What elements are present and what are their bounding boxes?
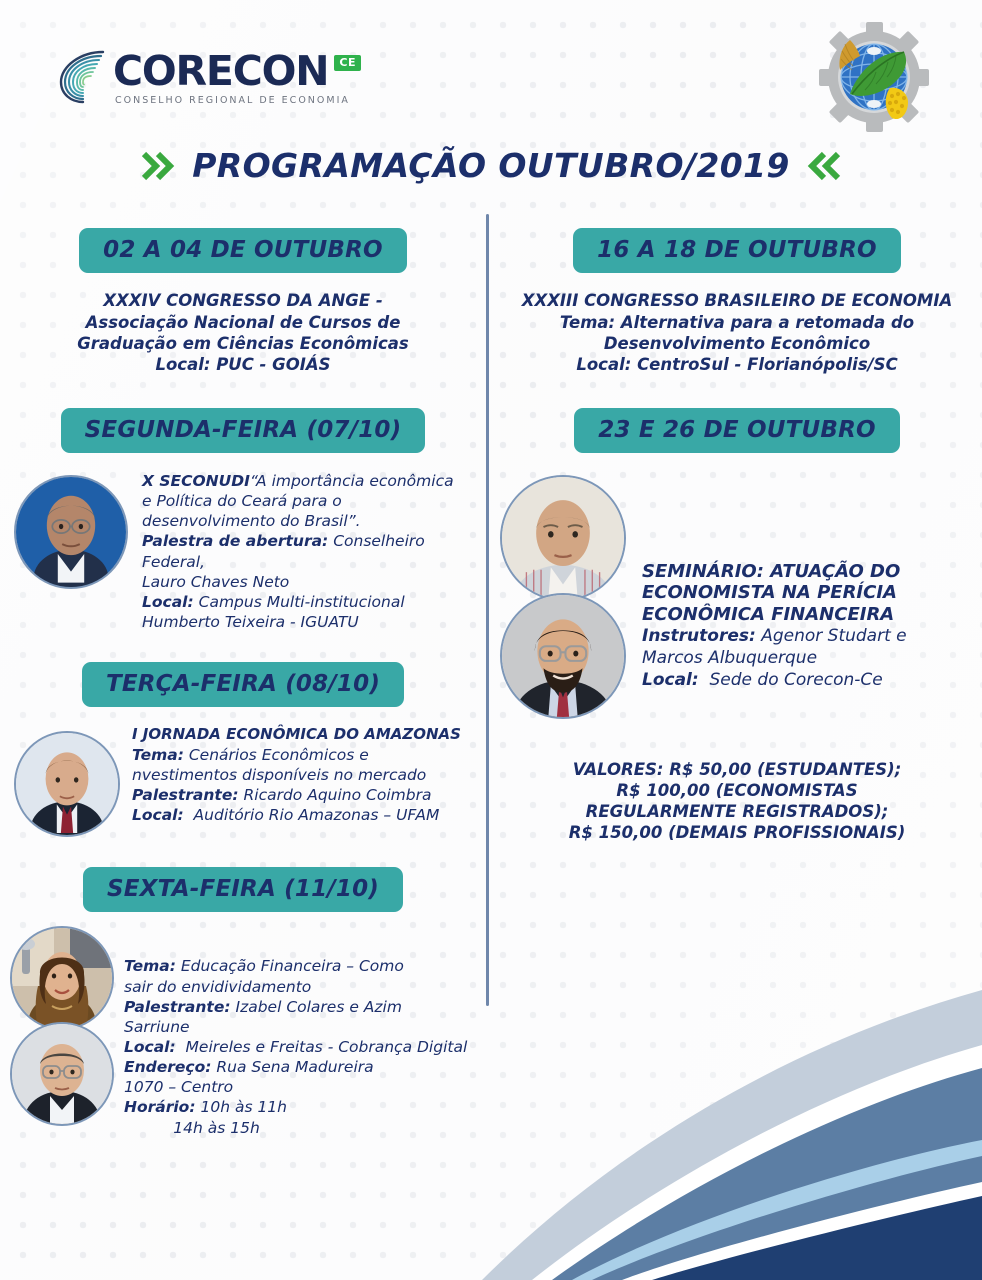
event-section: SEXTA-FEIRA (11/10) xyxy=(0,867,486,1137)
event-line: XXXIV CONGRESSO DA ANGE - xyxy=(22,290,464,311)
text-value: 14h às 15h xyxy=(124,1118,472,1138)
avatar-photo xyxy=(12,1024,112,1124)
text-label: Local: xyxy=(132,806,184,824)
pricing-line: R$ 100,00 (ECONOMISTAS xyxy=(518,780,956,801)
date-badge: 02 A 04 DE OUTUBRO xyxy=(79,228,407,273)
corecon-swirl-icon xyxy=(55,46,107,108)
text-value: e Política do Ceará para o xyxy=(142,491,472,511)
date-badge: 23 E 26 DE OUTUBRO xyxy=(574,408,900,453)
text-value: Humberto Teixeira - IGUATU xyxy=(142,612,472,632)
column-divider xyxy=(486,214,489,1006)
double-chevron-left-icon xyxy=(806,148,842,184)
event-body: XXXIV CONGRESSO DA ANGE - Associação Nac… xyxy=(0,290,486,376)
instructor-avatar xyxy=(500,593,626,719)
page-header: CORECON CE CONSELHO REGIONAL DE ECONOMIA xyxy=(0,0,982,140)
text-label: Local: xyxy=(142,593,194,611)
event-body: X SECONUDI“A importância econômica e Pol… xyxy=(0,471,486,632)
text-value: Educação Financeira – Como xyxy=(181,957,404,975)
text-value: 1070 – Centro xyxy=(124,1077,472,1097)
date-badge: 16 A 18 DE OUTUBRO xyxy=(573,228,901,273)
event-line: Local: CentroSul - Florianópolis/SC xyxy=(502,354,972,375)
event-line: XXXIII CONGRESSO BRASILEIRO DE ECONOMIA xyxy=(502,290,972,311)
avatar-photo xyxy=(12,928,112,1028)
event-body: XXXIII CONGRESSO BRASILEIRO DE ECONOMIA … xyxy=(492,290,982,376)
corecon-logo: CORECON CE CONSELHO REGIONAL DE ECONOMIA xyxy=(55,46,361,108)
pricing-line: REGULARMENTE REGISTRADOS); xyxy=(518,801,956,822)
pricing-line: R$ 150,00 (DEMAIS PROFISSIONAIS) xyxy=(518,822,956,843)
text-value: Marcos Albuquerque xyxy=(642,647,968,669)
date-badge: TERÇA-FEIRA (08/10) xyxy=(82,662,404,707)
event-line: Tema: Alternativa para a retomada do xyxy=(502,312,972,333)
text-label: Palestrante: xyxy=(124,998,231,1016)
speaker-avatar-stack xyxy=(10,926,114,1126)
avatar-photo xyxy=(502,477,624,599)
event-line: Local: PUC - GOIÁS xyxy=(22,354,464,375)
double-chevron-right-icon xyxy=(140,148,176,184)
corecon-emblem-icon xyxy=(812,18,936,136)
instructor-avatar xyxy=(500,475,626,601)
text-label: Palestra de abertura: xyxy=(142,532,328,550)
avatar-photo xyxy=(502,595,624,717)
event-text: I JORNADA ECONÔMICA DO AMAZONAS Tema: Ce… xyxy=(132,725,472,825)
date-badge: SEGUNDA-FEIRA (07/10) xyxy=(61,408,426,453)
event-body: Tema: Educação Financeira – Como sair do… xyxy=(0,926,486,1137)
text-label: Local: xyxy=(124,1038,176,1056)
event-text: X SECONUDI“A importância econômica e Pol… xyxy=(142,471,472,632)
event-heading: I JORNADA ECONÔMICA DO AMAZONAS xyxy=(132,725,472,745)
text-value: Ricardo Aquino Coimbra xyxy=(244,786,432,804)
speaker-avatar xyxy=(10,926,114,1030)
avatar-photo xyxy=(16,477,126,587)
event-section: SEGUNDA-FEIRA (07/10) xyxy=(0,408,486,632)
event-section: TERÇA-FEIRA (08/10) xyxy=(0,662,486,837)
event-text: Tema: Educação Financeira – Como sair do… xyxy=(124,926,472,1137)
text-value: Meireles e Freitas - Cobrança Digital xyxy=(186,1038,468,1056)
logo-state-badge: CE xyxy=(334,55,361,71)
text-label: Instrutores: xyxy=(642,626,756,646)
text-value: Agenor Studart e xyxy=(761,626,906,646)
event-heading-line: SEMINÁRIO: ATUAÇÃO DO xyxy=(642,561,968,582)
text-value: Campus Multi-institucional xyxy=(199,593,405,611)
text-label: Tema: xyxy=(124,957,176,975)
event-heading-line: ECONOMISTA NA PERÍCIA xyxy=(642,582,968,603)
text-value: Sede do Corecon-Ce xyxy=(710,670,883,690)
speaker-avatar xyxy=(14,475,128,589)
date-badge: SEXTA-FEIRA (11/10) xyxy=(83,867,403,912)
event-line: Associação Nacional de Cursos de xyxy=(22,312,464,333)
text-value: 10h às 11h xyxy=(200,1098,287,1116)
text-label: X SECONUDI xyxy=(142,472,250,490)
right-column: 16 A 18 DE OUTUBRO XXXIII CONGRESSO BRAS… xyxy=(492,228,982,843)
instructor-avatar-stack xyxy=(500,475,626,719)
text-value: Lauro Chaves Neto xyxy=(142,572,472,592)
text-label: Tema: xyxy=(132,746,184,764)
text-value: desenvolvimento do Brasil”. xyxy=(142,511,472,531)
text-value: Auditório Rio Amazonas – UFAM xyxy=(194,806,440,824)
pricing-block: VALORES: R$ 50,00 (ESTUDANTES); R$ 100,0… xyxy=(492,759,982,843)
event-section: 23 E 26 DE OUTUBRO xyxy=(492,408,982,719)
text-value: nvestimentos disponíveis no mercado xyxy=(132,765,472,785)
text-value: Cenários Econômicos e xyxy=(189,746,369,764)
event-heading: SEMINÁRIO: ATUAÇÃO DO ECONOMISTA NA PERÍ… xyxy=(642,561,968,625)
speaker-avatar xyxy=(10,1022,114,1126)
event-line: Desenvolvimento Econômico xyxy=(502,333,972,354)
left-column: 02 A 04 DE OUTUBRO XXXIV CONGRESSO DA AN… xyxy=(0,228,486,1138)
event-section: 02 A 04 DE OUTUBRO XXXIV CONGRESSO DA AN… xyxy=(0,228,486,376)
event-body: I JORNADA ECONÔMICA DO AMAZONAS Tema: Ce… xyxy=(0,725,486,837)
text-value: sair do envidividamento xyxy=(124,977,472,997)
text-label: Local: xyxy=(642,670,699,690)
event-line: Graduação em Ciências Econômicas xyxy=(22,333,464,354)
logo-tagline: CONSELHO REGIONAL DE ECONOMIA xyxy=(115,95,361,106)
page-title: PROGRAMAÇÃO OUTUBRO/2019 xyxy=(192,146,790,185)
text-label: Endereço: xyxy=(124,1058,211,1076)
event-body: SEMINÁRIO: ATUAÇÃO DO ECONOMISTA NA PERÍ… xyxy=(492,475,982,719)
speaker-avatar xyxy=(14,731,120,837)
pricing-line: VALORES: R$ 50,00 (ESTUDANTES); xyxy=(518,759,956,780)
avatar-photo xyxy=(16,733,118,835)
event-text: SEMINÁRIO: ATUAÇÃO DO ECONOMISTA NA PERÍ… xyxy=(642,475,968,691)
page-title-row: PROGRAMAÇÃO OUTUBRO/2019 xyxy=(0,146,982,185)
text-value: Rua Sena Madureira xyxy=(216,1058,373,1076)
event-section: 16 A 18 DE OUTUBRO XXXIII CONGRESSO BRAS… xyxy=(492,228,982,376)
logo-wordmark: CORECON xyxy=(113,52,328,91)
text-label: Palestrante: xyxy=(132,786,239,804)
text-value: “A importância econômica xyxy=(250,472,454,490)
text-label: Horário: xyxy=(124,1098,196,1116)
event-heading-line: ECONÔMICA FINANCEIRA xyxy=(642,604,968,625)
